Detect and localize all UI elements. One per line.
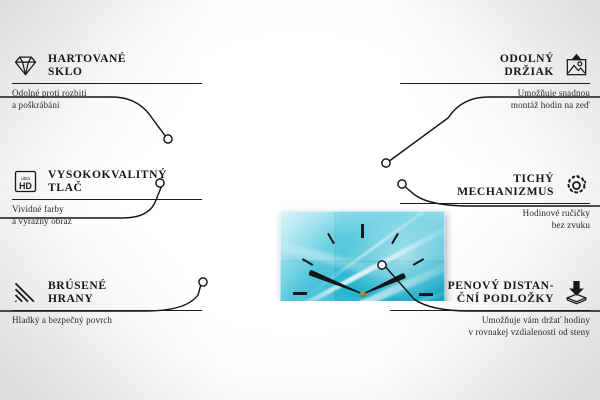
divider [390, 310, 590, 311]
feature-high-quality-print[interactable]: ultra HD VYSOKOKVALITNÝ TLAČ Vividné far… [12, 168, 202, 227]
feature-title: VYSOKOKVALITNÝ TLAČ [48, 168, 167, 194]
divider [12, 310, 202, 311]
foam-spacer-icon [563, 280, 590, 305]
feature-header: TICHÝ MECHANIZMUS [400, 172, 590, 198]
divider [12, 83, 202, 84]
hand-cap-nut [360, 291, 366, 297]
feature-sanded-edges[interactable]: BRÚSENÉ HRANY Hladký a bezpečný povrch [12, 279, 202, 327]
sanded-edges-icon [12, 280, 39, 305]
feature-title: PENOVÝ DISTAN- ČNÍ PODLOŽKY [448, 279, 554, 305]
feature-foam-spacers[interactable]: PENOVÝ DISTAN- ČNÍ PODLOŽKY Umožňuje vám… [390, 279, 590, 338]
feature-title: HARTOVANÉ SKLO [48, 52, 126, 78]
feature-header: HARTOVANÉ SKLO [12, 52, 202, 78]
diamond-icon [12, 53, 39, 78]
feature-header: PENOVÝ DISTAN- ČNÍ PODLOŽKY [390, 279, 590, 305]
gear-icon [563, 173, 590, 198]
divider [12, 199, 202, 200]
feature-silent-mechanism[interactable]: TICHÝ MECHANIZMUS Hodinové ručičky bez z… [400, 172, 590, 231]
feature-hardened-glass[interactable]: HARTOVANÉ SKLO Odolné proti rozbití a po… [12, 52, 202, 111]
feature-header: ultra HD VYSOKOKVALITNÝ TLAČ [12, 168, 202, 194]
clock-tick [362, 224, 364, 294]
feature-title: TICHÝ MECHANIZMUS [457, 172, 554, 198]
infographic-canvas: HARTOVANÉ SKLO Odolné proti rozbití a po… [0, 0, 600, 400]
feature-durable-hanger[interactable]: ODOLNÝ DRŽIAK Umožňuje snadnou montáž ho… [400, 52, 590, 111]
svg-text:HD: HD [19, 181, 32, 191]
ultra-hd-icon: ultra HD [12, 169, 39, 194]
feature-title: ODOLNÝ DRŽIAK [500, 52, 554, 78]
divider [400, 83, 590, 84]
feature-header: ODOLNÝ DRŽIAK [400, 52, 590, 78]
picture-frame-hanger-icon [563, 53, 590, 78]
feature-header: BRÚSENÉ HRANY [12, 279, 202, 305]
divider [400, 203, 590, 204]
svg-text:ultra: ultra [21, 176, 30, 181]
feature-title: BRÚSENÉ HRANY [48, 279, 107, 305]
clock-tick [293, 293, 363, 295]
